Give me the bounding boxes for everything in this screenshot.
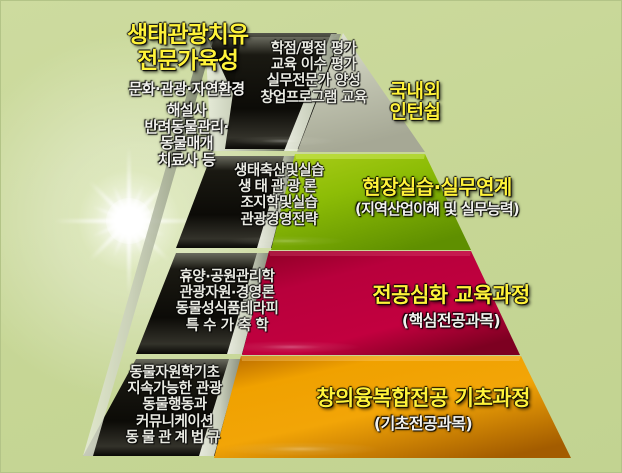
band-label: 창의융복합전공 기초과정 xyxy=(273,387,573,411)
band-label: 전공심화 교육과정 xyxy=(331,284,571,308)
course-item: 창업프로그램 교육 xyxy=(241,90,386,106)
band-label: 현장실습·실무연계 xyxy=(319,176,555,198)
course-item: 커뮤니케이션 xyxy=(97,414,252,430)
course-item: 지속가능한 관광 xyxy=(97,381,252,397)
band-label-line-2: 인턴쉽 xyxy=(369,102,461,123)
band-sublabel: (지역산업이해 및 실무능력) xyxy=(319,201,555,218)
tier-2-band-label: 현장실습·실무연계 (지역산업이해 및 실무능력) xyxy=(319,176,555,218)
course-item: 동물자원학기초 xyxy=(97,365,252,381)
tier-1-course-list: 학점/평점 평가 교육 이수 평가 실무전문가 양성 창업프로그램 교육 xyxy=(241,41,386,106)
tier-4-course-list: 동물자원학기초 지속가능한 관광 동물행동과 커뮤니케이션 동물관계법규 xyxy=(97,365,252,446)
course-item: 특 수 가 축 학 xyxy=(151,318,303,334)
pyramid-diagram-canvas: 생태관광치유 전문가육성 문화·관광·자연환경 해설사 반려동물관리· 동물매개… xyxy=(0,0,622,473)
course-item: 관광자원·경영론 xyxy=(151,285,303,301)
course-item: 동물관계법규 xyxy=(97,430,252,446)
course-item: 휴양·공원관리학 xyxy=(151,269,303,285)
band-sublabel: (핵심전공과목) xyxy=(331,312,571,330)
course-item: 실무전문가 양성 xyxy=(241,73,386,89)
band-sublabel: (기초전공과목) xyxy=(273,415,573,433)
course-item: 학점/평점 평가 xyxy=(241,41,386,57)
course-item: 동물행동과 xyxy=(97,397,252,413)
tier-3-band-label: 전공심화 교육과정 (핵심전공과목) xyxy=(331,284,571,329)
tier-1-band-label: 국내외 인턴쉽 xyxy=(369,81,461,124)
course-item: 동물성식품테라피 xyxy=(151,301,303,317)
course-item: 교육 이수 평가 xyxy=(241,57,386,73)
tier-3-course-list: 휴양·공원관리학 관광자원·경영론 동물성식품테라피 특 수 가 축 학 xyxy=(151,269,303,334)
band-label-line-1: 국내외 xyxy=(369,81,461,102)
title-item: 반려동물관리· xyxy=(79,119,294,136)
title-item: 동물매개 xyxy=(79,135,294,152)
tier-4-band-label: 창의융복합전공 기초과정 (기초전공과목) xyxy=(273,387,573,432)
